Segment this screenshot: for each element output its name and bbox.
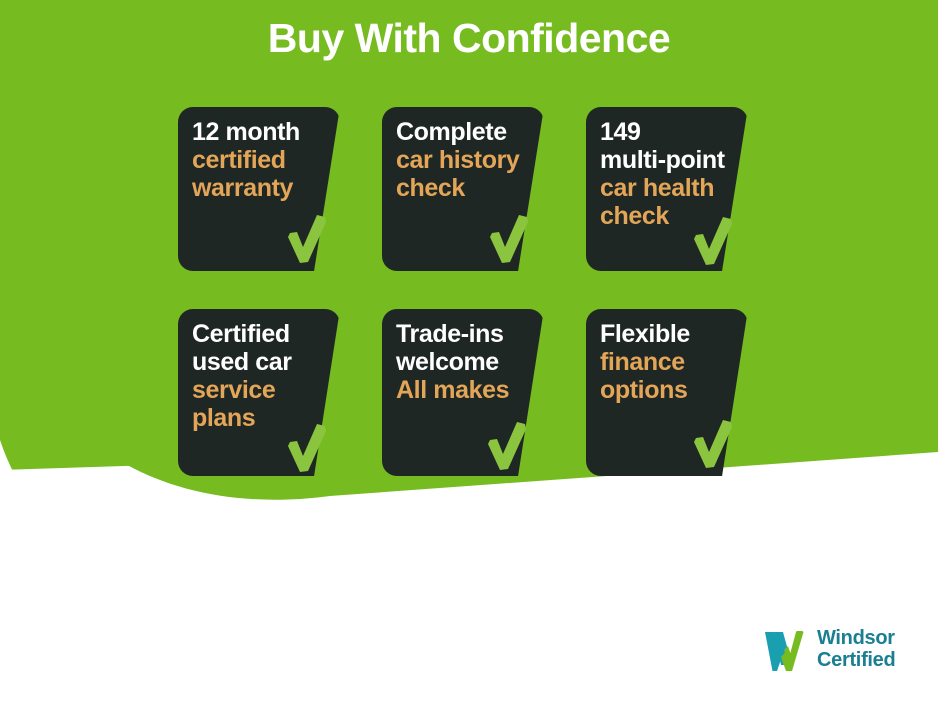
feature-card-flexible-finance[interactable]: Flexible finance options <box>586 309 748 476</box>
card-line-primary: Flexible <box>600 320 740 348</box>
feature-card-multi-point-health-check[interactable]: 149 multi-point car health check <box>586 107 748 271</box>
logo-wordmark: Windsor Certified <box>817 628 895 671</box>
card-line-primary: used car <box>192 348 332 376</box>
feature-card-grid: 12 month certified warranty Complete car… <box>178 107 748 476</box>
card-line-accent: finance <box>600 348 740 376</box>
card-row-top: 12 month certified warranty Complete car… <box>178 107 748 271</box>
card-line-accent: check <box>396 174 536 202</box>
promo-banner: Buy With Confidence 12 month certified w… <box>0 0 938 704</box>
logo-line-2: Certified <box>817 650 895 672</box>
card-line-primary: 149 <box>600 118 740 146</box>
feature-card-car-history-check[interactable]: Complete car history check <box>382 107 544 271</box>
check-icon <box>484 418 528 472</box>
card-line-primary: multi-point <box>600 146 740 174</box>
card-line-primary: welcome <box>396 348 536 376</box>
card-text: Complete car history check <box>396 118 536 202</box>
check-icon <box>690 213 734 267</box>
card-line-accent: service <box>192 376 332 404</box>
card-text: 12 month certified warranty <box>192 118 332 202</box>
card-text: Certified used car service plans <box>192 320 332 432</box>
check-icon <box>486 211 530 265</box>
card-text: Trade-ins welcome All makes <box>396 320 536 404</box>
card-text: Flexible finance options <box>600 320 740 404</box>
card-line-accent: car history <box>396 146 536 174</box>
logo-line-1: Windsor <box>817 628 895 650</box>
feature-card-certified-warranty[interactable]: 12 month certified warranty <box>178 107 340 271</box>
card-line-accent: car health <box>600 174 740 202</box>
card-line-accent: options <box>600 376 740 404</box>
card-line-primary: Certified <box>192 320 332 348</box>
card-line-primary: Trade-ins <box>396 320 536 348</box>
windsor-w-icon <box>762 628 808 672</box>
check-icon <box>284 420 328 474</box>
card-line-accent: certified <box>192 146 332 174</box>
card-line-accent: warranty <box>192 174 332 202</box>
brand-logo[interactable]: Windsor Certified <box>762 628 895 672</box>
page-title: Buy With Confidence <box>0 16 938 61</box>
card-line-primary: 12 month <box>192 118 332 146</box>
check-icon <box>690 416 734 470</box>
feature-card-service-plans[interactable]: Certified used car service plans <box>178 309 340 476</box>
feature-card-trade-ins[interactable]: Trade-ins welcome All makes <box>382 309 544 476</box>
check-icon <box>284 211 328 265</box>
card-line-primary: Complete <box>396 118 536 146</box>
card-row-bottom: Certified used car service plans Trade-i… <box>178 309 748 476</box>
card-line-accent: All makes <box>396 376 536 404</box>
